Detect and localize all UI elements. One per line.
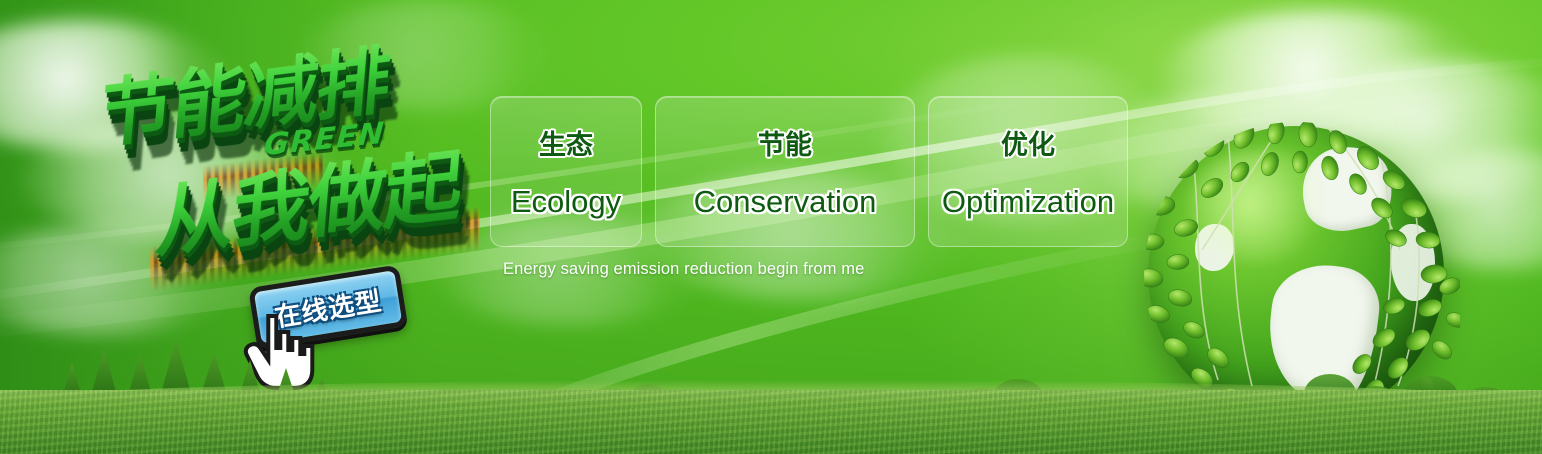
feature-card-en-label: Conservation <box>694 184 877 220</box>
leafy-earth-globe-icon <box>1148 126 1444 422</box>
cloud-shape <box>300 0 560 110</box>
cloud-shape <box>0 225 240 335</box>
headline-line-bottom: 从我做起 <box>152 123 466 273</box>
cloud-shape <box>1160 10 1490 145</box>
headline-artwork: 节能减排 从我做起 GREEN <box>95 30 495 280</box>
eco-hero-banner: 节能减排 从我做起 GREEN 在线选型 生态 Ecology 节能 Conse… <box>0 0 1542 454</box>
cloud-shape <box>20 120 350 240</box>
feature-card-list: 生态 Ecology 节能 Conservation 优化 Optimizati… <box>490 96 1128 247</box>
cloud-shape <box>0 20 230 150</box>
feature-card-ecology[interactable]: 生态 Ecology <box>490 96 642 247</box>
continent-south-america <box>1261 259 1383 407</box>
headline-ember-base <box>203 151 324 202</box>
feature-card-optimization[interactable]: 优化 Optimization <box>928 96 1128 247</box>
banner-tagline: Energy saving emission reduction begin f… <box>503 260 864 279</box>
feature-card-conservation[interactable]: 节能 Conservation <box>655 96 915 247</box>
feature-card-cn-label: 节能 <box>758 123 812 162</box>
feature-card-cn-label: 优化 <box>1001 123 1055 162</box>
online-selection-button[interactable]: 在线选型 <box>248 264 408 349</box>
sky-left-shade <box>0 0 430 454</box>
feature-card-en-label: Optimization <box>942 184 1114 220</box>
globe-highlight <box>1189 150 1343 262</box>
feature-card-cn-label: 生态 <box>539 123 593 162</box>
headline-line-top: 节能减排 <box>96 20 394 163</box>
globe-sphere <box>1148 126 1444 422</box>
headline-overlay-word: GREEN <box>263 116 386 163</box>
online-selection-cta[interactable]: 在线选型 <box>248 264 408 349</box>
continent-patch-right <box>1391 224 1435 301</box>
online-selection-label: 在线选型 <box>272 280 384 333</box>
feature-card-en-label: Ecology <box>511 184 621 220</box>
